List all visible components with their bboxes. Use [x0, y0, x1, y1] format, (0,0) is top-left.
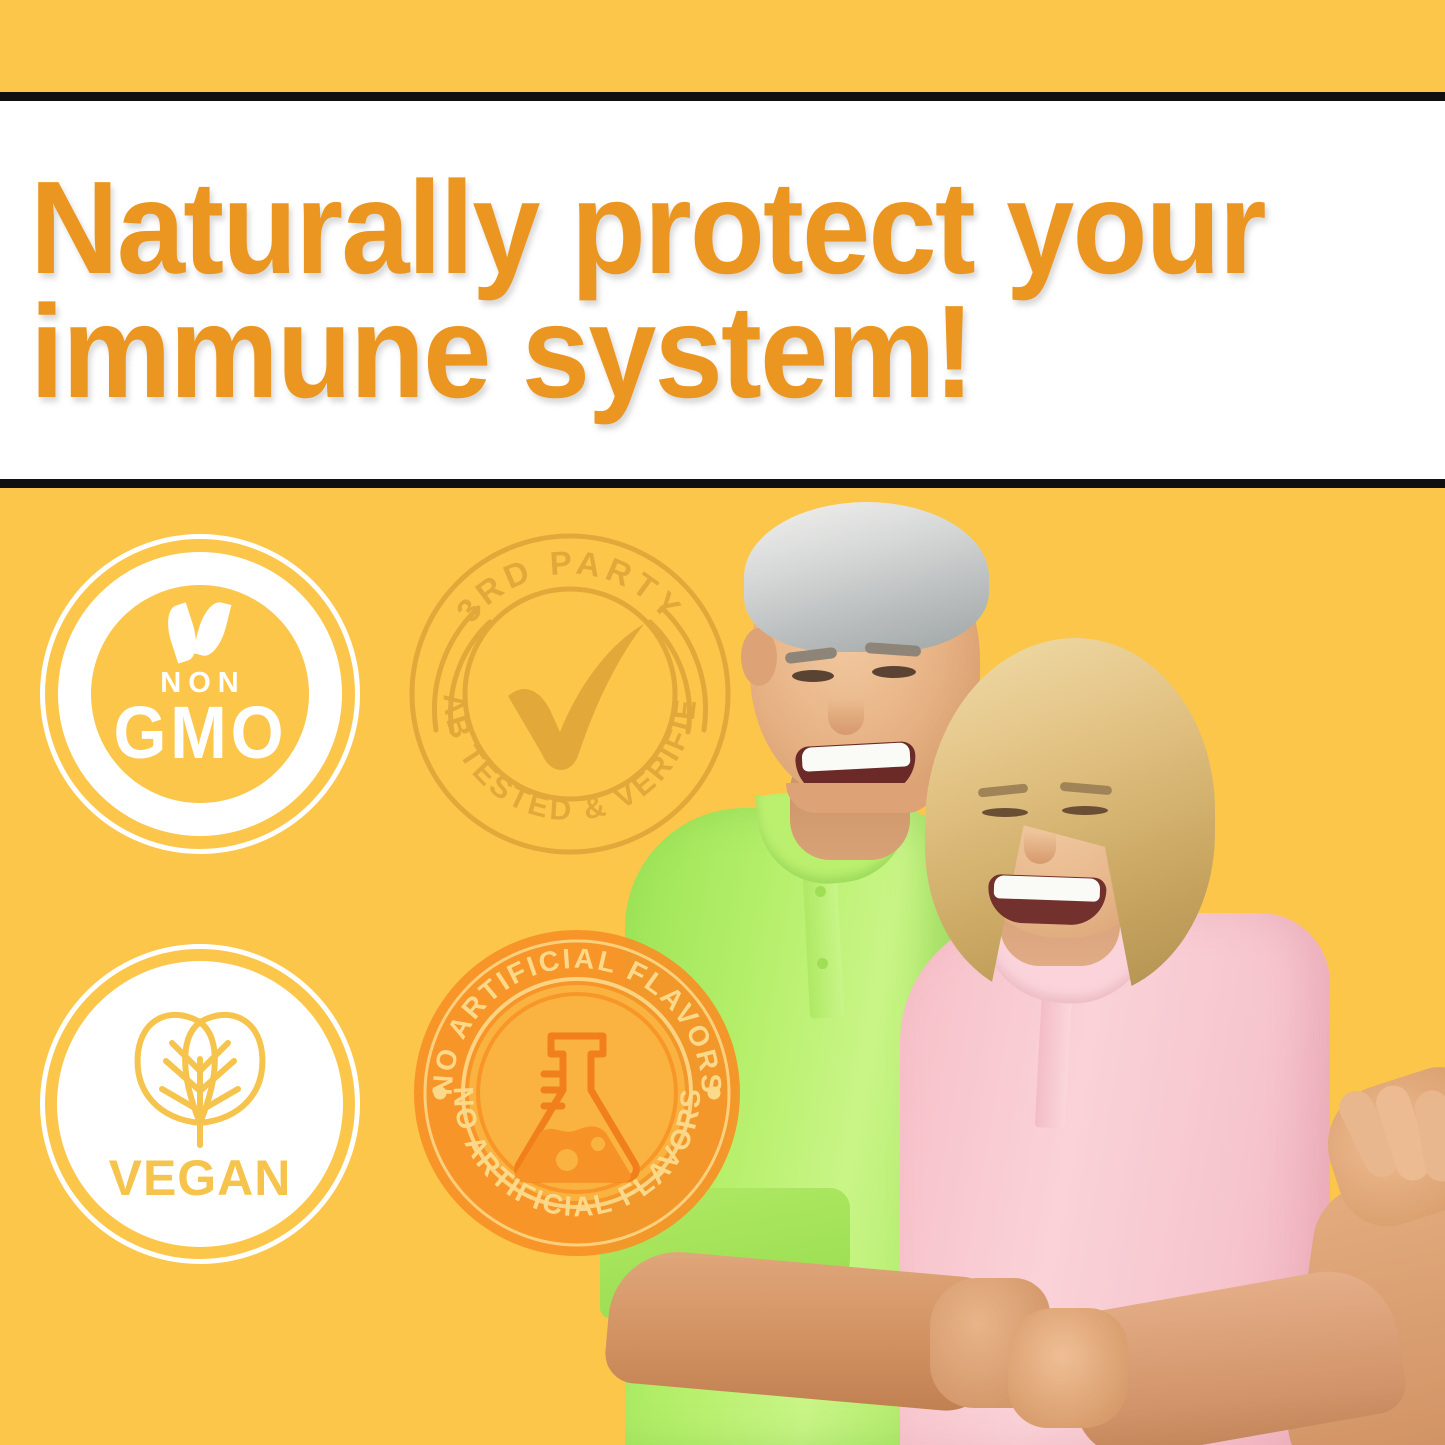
- woman-teeth: [994, 875, 1101, 902]
- man-shirt-button-bottom: [817, 958, 828, 969]
- two-leaves-icon: [116, 999, 284, 1149]
- promo-banner: Naturally protect your immune system!: [0, 0, 1445, 1445]
- flask-bubble-small: [591, 1137, 605, 1151]
- badge-vegan: VEGAN: [40, 944, 360, 1264]
- headline-line-1: Naturally protect your: [30, 166, 1346, 290]
- headline-line-2: immune system!: [30, 290, 1346, 414]
- man-shirt-button-top: [815, 886, 826, 897]
- bottom-divider-rule: [0, 479, 1445, 488]
- badge-no-artificial-flavors: NO ARTIFICIAL FLAVORS NO ARTIFICIAL FLAV…: [412, 928, 742, 1258]
- flask-bubble-large: [556, 1149, 578, 1171]
- non-gmo-content: NON GMO: [91, 585, 309, 803]
- woman-nose: [1024, 818, 1056, 864]
- vegan-label: VEGAN: [109, 1153, 292, 1203]
- man-hair: [744, 502, 989, 652]
- top-yellow-strip: [0, 0, 1445, 92]
- woman-eye-right: [1062, 806, 1108, 815]
- woman-eye-left: [982, 808, 1028, 817]
- headline-block: Naturally protect your immune system!: [0, 101, 1445, 479]
- badge-third-party: 3RD PARTY LAB TESTED & VERIFIED: [400, 524, 740, 864]
- man-eye-left: [792, 670, 834, 682]
- man-eye-right: [872, 666, 916, 678]
- vegan-content: VEGAN: [57, 961, 343, 1247]
- leaf-right-shape: [193, 599, 232, 660]
- badges-and-photo-panel: Smiling senior couple embracing, man in …: [0, 488, 1445, 1445]
- woman-hand-clasp: [1008, 1308, 1128, 1428]
- man-chin: [786, 783, 936, 813]
- checkmark-icon: [508, 624, 644, 770]
- badge-non-gmo: NON GMO: [40, 534, 360, 854]
- third-party-top-text: 3RD PARTY: [449, 544, 691, 630]
- top-divider-rule: [0, 92, 1445, 101]
- man-nose: [828, 683, 864, 735]
- non-gmo-large-label: GMO: [113, 698, 287, 768]
- svg-text:3RD PARTY: 3RD PARTY: [449, 544, 691, 630]
- leaf-sprout-icon: [165, 601, 235, 665]
